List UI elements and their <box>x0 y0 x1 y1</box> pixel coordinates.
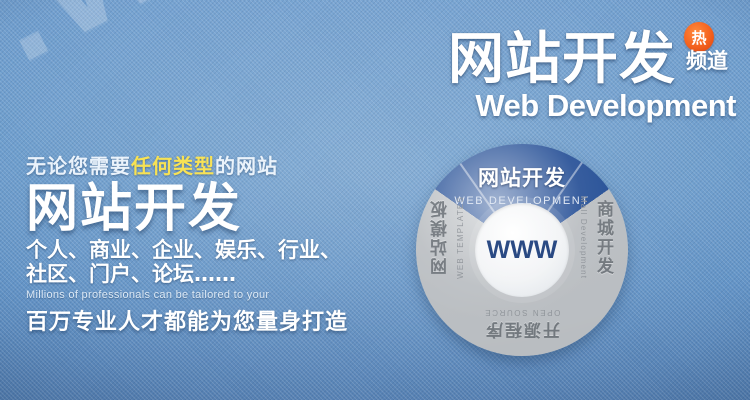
tagline-prefix: 无论您需要 <box>26 154 131 178</box>
subtitle-english: Millions of professionals can be tailore… <box>26 289 376 301</box>
header-title-en: Web Development <box>448 90 736 121</box>
tagline-highlight: 任何类型 <box>131 154 215 178</box>
headline: 网站开发 <box>26 183 376 236</box>
header-title-row: 网站开发 热 频道 <box>448 22 736 88</box>
hot-channel-group: 热 频道 <box>678 22 736 88</box>
tagline-suffix: 的网站 <box>215 154 278 178</box>
donut-center-hub: WWW <box>475 203 569 297</box>
category-list: 个人、商业、企业、娱乐、行业、 社区、门户、论坛…… <box>26 239 376 286</box>
category-line-1: 个人、商业、企业、娱乐、行业、 <box>26 239 376 263</box>
donut-ring: WWW <box>416 144 628 356</box>
tagline: 无论您需要任何类型的网站 <box>26 150 376 179</box>
promo-banner: W.W.W 网站开发 热 频道 Web Development 无论您需要任何类… <box>0 0 750 400</box>
channel-label: 频道 <box>678 50 736 73</box>
hot-badge-icon: 热 <box>684 22 714 52</box>
footer-tagline: 百万专业人才都能为您量身打造 <box>26 304 376 336</box>
banner-header: 网站开发 热 频道 Web Development <box>448 22 736 121</box>
service-donut-diagram: WWW 网站开发 WEB DEVELOPMENT 网站模板 WEB TEMPLA… <box>408 138 636 368</box>
donut-center-label: WWW <box>487 236 558 265</box>
category-line-2: 社区、门户、论坛…… <box>26 263 376 287</box>
copy-block: 无论您需要任何类型的网站 网站开发 个人、商业、企业、娱乐、行业、 社区、门户、… <box>26 150 376 336</box>
header-title-cn: 网站开发 <box>448 32 676 88</box>
